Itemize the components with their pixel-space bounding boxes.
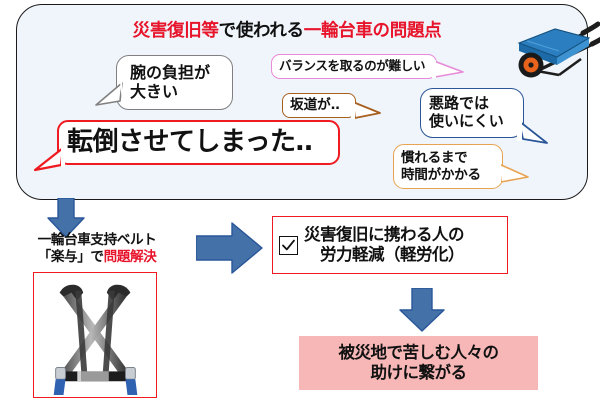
bubble-tail-icon [35, 146, 63, 172]
solution-caption-line2-black: 「楽与」で [38, 249, 104, 265]
bubble-tail-icon [519, 119, 549, 145]
bubble-time-needed: 慣れるまで 時間がかかる [393, 144, 503, 189]
result-text-line2: 労力軽減（軽労化） [304, 245, 464, 265]
final-outcome-line1: 被災地で苦しむ人々の [339, 343, 499, 362]
belt-harness-photo [33, 272, 157, 398]
bubble-arm-burden: 腕の負担が 大きい [116, 55, 233, 110]
result-box: 災害復旧に携わる人の 労力軽減（軽労化） [272, 216, 508, 274]
bubble-tail-icon [96, 81, 122, 107]
wheelbarrow-icon [497, 13, 600, 81]
arrow-down-to-final [398, 288, 446, 332]
bubble-slope-line1: 坂道が‥ [290, 97, 355, 113]
bubble-balance: バランスを取るのが難しい [271, 54, 437, 79]
solution-caption-line2-red: 問題解決 [104, 249, 157, 265]
result-text-line1: 災害復旧に携わる人の [304, 225, 464, 244]
page-title-part-black: で使われる [219, 21, 304, 41]
bubble-slope: 坂道が‥ [282, 93, 356, 118]
bubble-bad-road: 悪路では 使いにくい [420, 88, 524, 138]
final-outcome-text: 被災地で苦しむ人々の 助けに繋がる [339, 343, 499, 384]
bubble-tail-icon [353, 101, 381, 121]
bubble-bad-road-line2: 使いにくい [429, 113, 523, 131]
checkbox-checked-icon[interactable] [279, 236, 298, 255]
bubble-bad-road-line1: 悪路では [429, 95, 523, 113]
final-outcome-line2: 助けに繋がる [371, 363, 467, 382]
bubble-time-needed-line1: 慣れるまで [401, 150, 502, 166]
bubble-arm-burden-line2: 大きい [130, 83, 232, 102]
page-title-part-red-1: 災害復旧等 [133, 21, 219, 41]
page-title: 災害復旧等で使われる一輪台車の問題点 [87, 17, 487, 42]
final-outcome-box: 被災地で苦しむ人々の 助けに繋がる [299, 336, 538, 390]
bubble-tipped-over-line1: 転倒させてしまった‥ [67, 127, 338, 158]
solution-caption: 一輪台車支持ベルト 「楽与」で問題解決 [8, 232, 186, 266]
bubble-tipped-over: 転倒させてしまった‥ [57, 120, 340, 165]
slide-canvas: 災害復旧等で使われる一輪台車の問題点 腕の負担が 大きい バランスを取るのが難し… [0, 0, 600, 400]
bubble-time-needed-line2: 時間がかかる [401, 167, 502, 183]
bubble-balance-line1: バランスを取るのが難しい [279, 59, 436, 74]
result-text: 災害復旧に携わる人の 労力軽減（軽労化） [304, 225, 464, 265]
bubble-arm-burden-line1: 腕の負担が [130, 64, 232, 83]
bubble-tail-icon [499, 163, 529, 185]
solution-caption-line1: 一輪台車支持ベルト [8, 232, 186, 249]
arrow-right-to-result [196, 222, 264, 274]
problem-panel: 災害復旧等で使われる一輪台車の問題点 腕の負担が 大きい バランスを取るのが難し… [16, 4, 588, 200]
solution-caption-line2: 「楽与」で問題解決 [8, 249, 186, 266]
page-title-part-red-2: 一輪台車の問題点 [304, 21, 442, 41]
bubble-tail-icon [434, 59, 464, 79]
